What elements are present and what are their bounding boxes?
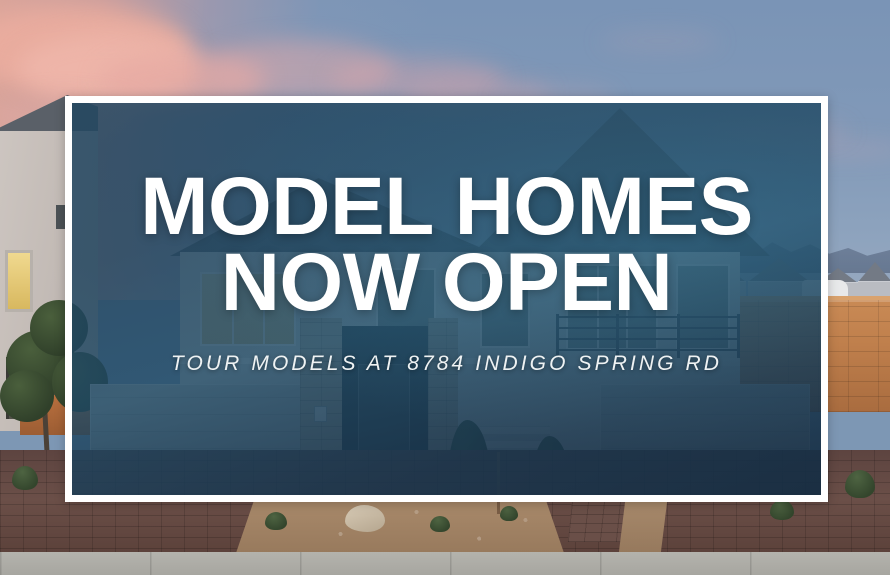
overlay-frame: MODEL HOMES NOW OPEN TOUR MODELS AT 8784… <box>65 96 828 502</box>
desert-plant <box>845 470 875 498</box>
gravel-landscaping <box>618 498 667 556</box>
desert-plant <box>430 516 450 532</box>
headline: MODEL HOMES NOW OPEN <box>140 169 753 322</box>
desert-plant <box>12 466 38 490</box>
desert-plant <box>500 506 518 521</box>
banner-copy: MODEL HOMES NOW OPEN TOUR MODELS AT 8784… <box>72 103 821 495</box>
concrete-sidewalk <box>0 552 890 575</box>
desert-plant <box>265 512 287 530</box>
subheadline: TOUR MODELS AT 8784 INDIGO SPRING RD <box>171 352 722 376</box>
lit-window <box>5 250 33 312</box>
model-homes-banner: MODEL HOMES NOW OPEN TOUR MODELS AT 8784… <box>0 0 890 575</box>
tree-foliage <box>0 370 54 422</box>
headline-line-2: NOW OPEN <box>140 245 753 321</box>
desert-plant <box>770 500 794 520</box>
boulder <box>345 505 385 532</box>
